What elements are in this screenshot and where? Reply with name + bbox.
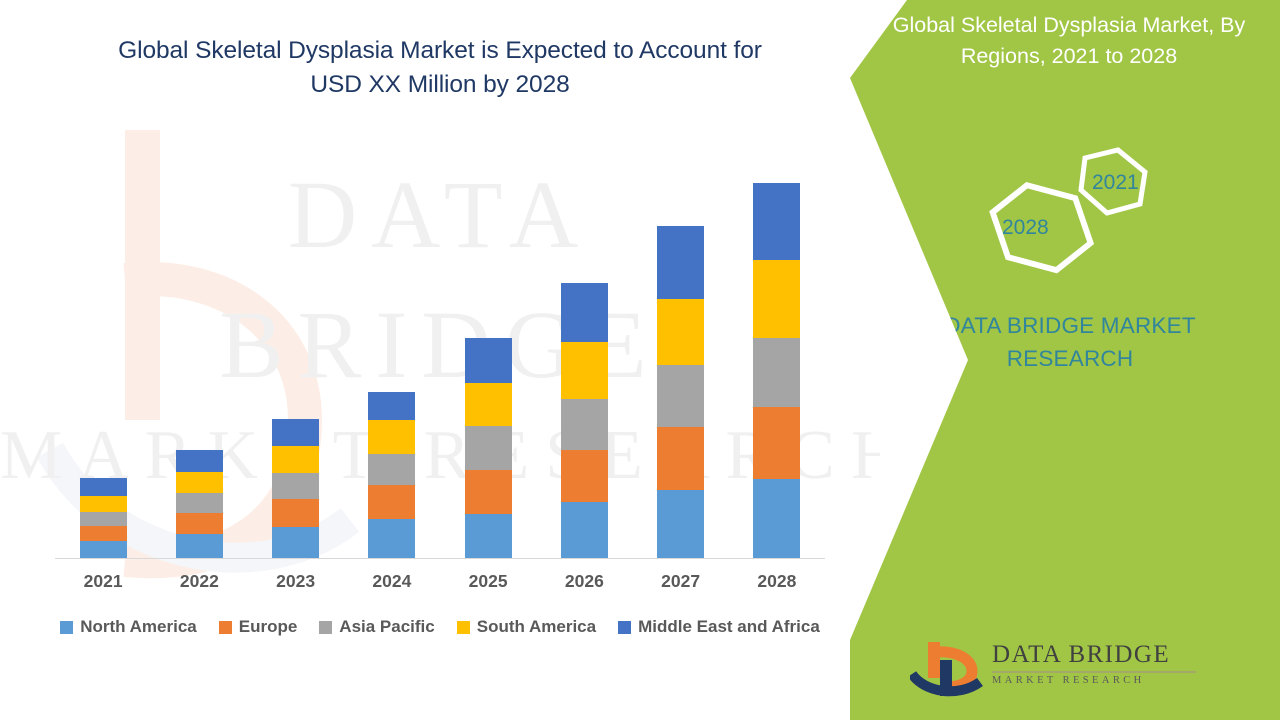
bar-segment-europe[interactable] [368, 485, 415, 519]
bar-group-2027[interactable] [633, 226, 729, 558]
bar-segment-asia-pacific[interactable] [561, 399, 608, 450]
bar-segment-north-america[interactable] [272, 527, 319, 558]
bar-segment-middle-east-and-africa[interactable] [657, 226, 704, 298]
bar-segment-middle-east-and-africa[interactable] [272, 419, 319, 446]
bar-group-2022[interactable] [151, 450, 247, 558]
bar-segment-middle-east-and-africa[interactable] [176, 450, 223, 472]
x-tick-label-2021: 2021 [55, 571, 151, 592]
bar-segment-asia-pacific[interactable] [272, 473, 319, 499]
legend-label: Middle East and Africa [638, 617, 820, 637]
bar-segment-south-america[interactable] [465, 383, 512, 426]
x-axis-line [55, 558, 825, 559]
legend-item-south-america[interactable]: South America [457, 617, 596, 637]
databridge-b-logo-icon [910, 638, 988, 700]
bar-stack [176, 450, 223, 558]
bar-segment-europe[interactable] [176, 513, 223, 535]
bar-stack [272, 419, 319, 558]
x-tick-label-2025: 2025 [440, 571, 536, 592]
hexagon-outline-icon [955, 138, 1185, 288]
bar-group-2024[interactable] [344, 392, 440, 558]
bar-segment-asia-pacific[interactable] [80, 512, 127, 526]
bar-segment-europe[interactable] [561, 450, 608, 503]
bar-group-2026[interactable] [536, 283, 632, 558]
hex-badge-2028-label: 2028 [1002, 216, 1049, 240]
legend-swatch-icon [319, 621, 332, 634]
chart-legend: North AmericaEuropeAsia PacificSouth Ame… [55, 617, 825, 637]
bar-group-2021[interactable] [55, 478, 151, 558]
bar-segment-europe[interactable] [272, 499, 319, 527]
legend-swatch-icon [457, 621, 470, 634]
logo-title: DATA BRIDGE [992, 642, 1196, 667]
legend-item-north-america[interactable]: North America [60, 617, 197, 637]
brand-name: DATA BRIDGE MARKET RESEARCH [880, 310, 1260, 375]
bar-segment-north-america[interactable] [657, 490, 704, 558]
bar-segment-europe[interactable] [657, 427, 704, 490]
bar-segment-north-america[interactable] [465, 514, 512, 558]
bar-segment-south-america[interactable] [561, 342, 608, 399]
x-tick-label-2028: 2028 [729, 571, 825, 592]
x-tick-label-2022: 2022 [151, 571, 247, 592]
legend-item-middle-east-and-africa[interactable]: Middle East and Africa [618, 617, 820, 637]
legend-swatch-icon [60, 621, 73, 634]
bar-segment-middle-east-and-africa[interactable] [753, 183, 800, 260]
legend-item-asia-pacific[interactable]: Asia Pacific [319, 617, 434, 637]
logo-divider [992, 671, 1196, 673]
bar-stack [465, 338, 512, 558]
bar-segment-middle-east-and-africa[interactable] [80, 478, 127, 497]
x-tick-label-2027: 2027 [633, 571, 729, 592]
hexagon-badges: 2021 2028 [955, 138, 1185, 288]
legend-swatch-icon [618, 621, 631, 634]
legend-label: Asia Pacific [339, 617, 434, 637]
bar-segment-middle-east-and-africa[interactable] [561, 283, 608, 342]
bar-segment-south-america[interactable] [176, 472, 223, 494]
bar-segment-asia-pacific[interactable] [465, 426, 512, 470]
bar-segment-south-america[interactable] [753, 260, 800, 337]
legend-label: Europe [239, 617, 298, 637]
branding-panel: Global Skeletal Dysplasia Market, By Reg… [850, 0, 1280, 720]
bar-segment-south-america[interactable] [368, 420, 415, 454]
x-tick-label-2024: 2024 [344, 571, 440, 592]
logo-subtitle: MARKET RESEARCH [992, 676, 1196, 687]
bar-segment-asia-pacific[interactable] [657, 365, 704, 427]
x-tick-label-2023: 2023 [248, 571, 344, 592]
panel-heading: Global Skeletal Dysplasia Market, By Reg… [878, 10, 1260, 71]
plot-area: 20212022202320242025202620272028 [0, 0, 880, 720]
databridge-logo: DATA BRIDGE MARKET RESEARCH [910, 638, 1260, 700]
bar-stack [80, 478, 127, 558]
bar-stack [561, 283, 608, 558]
bar-stack [753, 183, 800, 558]
bar-segment-north-america[interactable] [753, 479, 800, 558]
bar-segment-north-america[interactable] [80, 541, 127, 558]
bar-segment-south-america[interactable] [272, 446, 319, 474]
bar-segment-south-america[interactable] [657, 299, 704, 366]
x-tick-label-2026: 2026 [536, 571, 632, 592]
chart-panel: DATA BRIDGE MARKET RESEARCH Global Skele… [0, 0, 880, 720]
legend-label: North America [80, 617, 197, 637]
legend-label: South America [477, 617, 596, 637]
bar-segment-europe[interactable] [753, 407, 800, 479]
bar-segment-middle-east-and-africa[interactable] [465, 338, 512, 382]
bar-segment-north-america[interactable] [561, 502, 608, 558]
bar-segment-europe[interactable] [80, 526, 127, 541]
legend-item-europe[interactable]: Europe [219, 617, 298, 637]
bar-group-2025[interactable] [440, 338, 536, 558]
bar-segment-asia-pacific[interactable] [753, 338, 800, 407]
bar-group-2028[interactable] [729, 183, 825, 558]
legend-swatch-icon [219, 621, 232, 634]
bar-stack [657, 226, 704, 558]
bar-segment-north-america[interactable] [176, 534, 223, 558]
hex-badge-2021-label: 2021 [1092, 171, 1139, 195]
logo-wordmark: DATA BRIDGE MARKET RESEARCH [992, 642, 1196, 686]
bar-segment-north-america[interactable] [368, 519, 415, 558]
bar-segment-middle-east-and-africa[interactable] [368, 392, 415, 420]
bar-group-2023[interactable] [248, 419, 344, 558]
bar-segment-asia-pacific[interactable] [176, 493, 223, 513]
bar-segment-asia-pacific[interactable] [368, 454, 415, 485]
bar-segment-south-america[interactable] [80, 496, 127, 511]
bar-segment-europe[interactable] [465, 470, 512, 513]
bar-stack [368, 392, 415, 558]
